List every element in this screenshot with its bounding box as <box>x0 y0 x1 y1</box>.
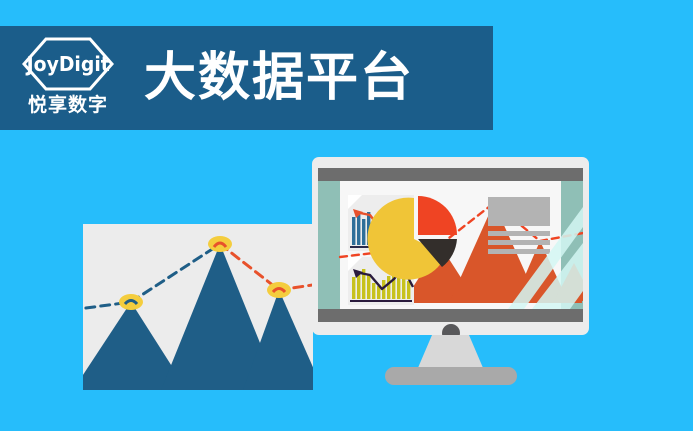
brand-logo: JoyDigit 悦享数字 <box>14 36 122 120</box>
monitor-bezel-top <box>318 168 583 181</box>
monitor-base <box>385 367 517 385</box>
left-chart-panel <box>83 224 313 390</box>
logo-wordmark: JoyDigit <box>26 54 109 74</box>
header-banner: JoyDigit 悦享数字 大数据平台 <box>0 26 493 130</box>
page-title: 大数据平台 <box>144 52 414 104</box>
illustration-canvas: JoyDigit 悦享数字 大数据平台 <box>0 0 693 431</box>
screen-band-left <box>318 181 340 309</box>
hexagon-icon: JoyDigit <box>20 36 116 92</box>
mountain-shapes <box>83 244 313 390</box>
monitor-screen <box>318 181 583 309</box>
monitor <box>312 157 589 335</box>
monitor-bezel-bottom <box>318 309 583 322</box>
monitor-stand <box>418 335 484 369</box>
logo-subtitle: 悦享数字 <box>28 96 108 115</box>
